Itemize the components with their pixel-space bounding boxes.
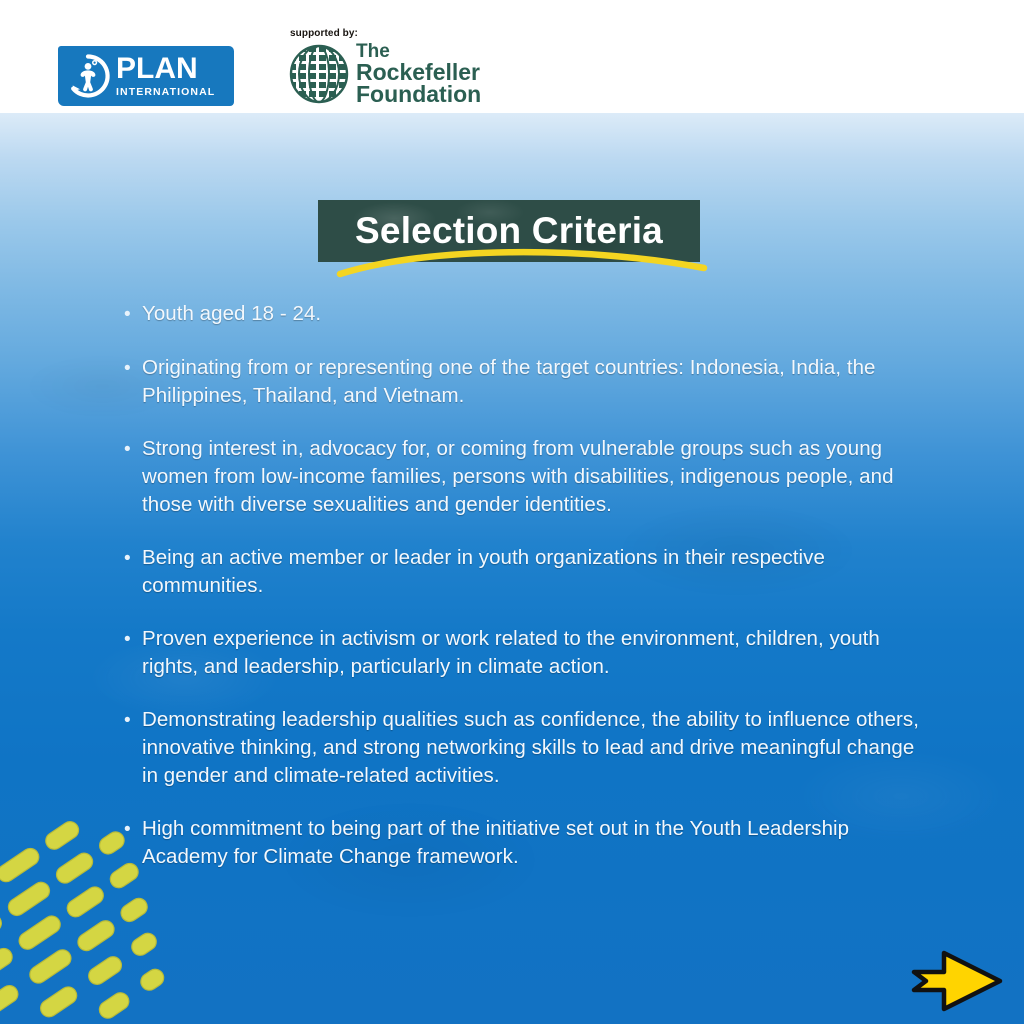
bullet-point-icon: • [124,435,142,519]
rockefeller-line-2: Rockefeller [356,61,481,83]
bullet-point-icon: • [124,625,142,681]
plan-wordmark: PLAN INTERNATIONAL [116,54,215,98]
rockefeller-wordmark: The Rockefeller Foundation [356,43,481,105]
next-arrow-icon[interactable] [904,948,1008,1014]
rockefeller-foundation-logo: supported by: [288,28,488,110]
poster-canvas: PLAN INTERNATIONAL supported by: [0,0,1024,1024]
plan-name: PLAN [116,54,215,84]
list-item: • Originating from or representing one o… [124,354,924,410]
list-item-text: Proven experience in activism or work re… [142,625,924,681]
list-item: • High commitment to being part of the i… [124,815,924,871]
page-title-box: Selection Criteria [318,200,700,262]
bullet-point-icon: • [124,706,142,790]
list-item: • Being an active member or leader in yo… [124,544,924,600]
bullet-point-icon: • [124,300,142,329]
list-item-text: Being an active member or leader in yout… [142,544,924,600]
list-item-text: Youth aged 18 - 24. [142,300,924,329]
plan-international-logo: PLAN INTERNATIONAL [58,46,234,106]
list-item-text: High commitment to being part of the ini… [142,815,924,871]
supported-by-label: supported by: [290,28,488,39]
selection-criteria-list: • Youth aged 18 - 24. • Originating from… [124,300,924,896]
globe-grid-icon [288,43,350,105]
plan-subtitle: INTERNATIONAL [116,87,215,98]
plan-child-mark-icon [64,52,112,100]
page-title: Selection Criteria [318,200,700,262]
list-item: • Strong interest in, advocacy for, or c… [124,435,924,519]
bullet-point-icon: • [124,815,142,871]
list-item: • Youth aged 18 - 24. [124,300,924,329]
bullet-point-icon: • [124,544,142,600]
rockefeller-line-3: Foundation [356,83,481,105]
list-item-text: Originating from or representing one of … [142,354,924,410]
bullet-point-icon: • [124,354,142,410]
list-item-text: Strong interest in, advocacy for, or com… [142,435,924,519]
list-item: • Demonstrating leadership qualities suc… [124,706,924,790]
list-item: • Proven experience in activism or work … [124,625,924,681]
list-item-text: Demonstrating leadership qualities such … [142,706,924,790]
